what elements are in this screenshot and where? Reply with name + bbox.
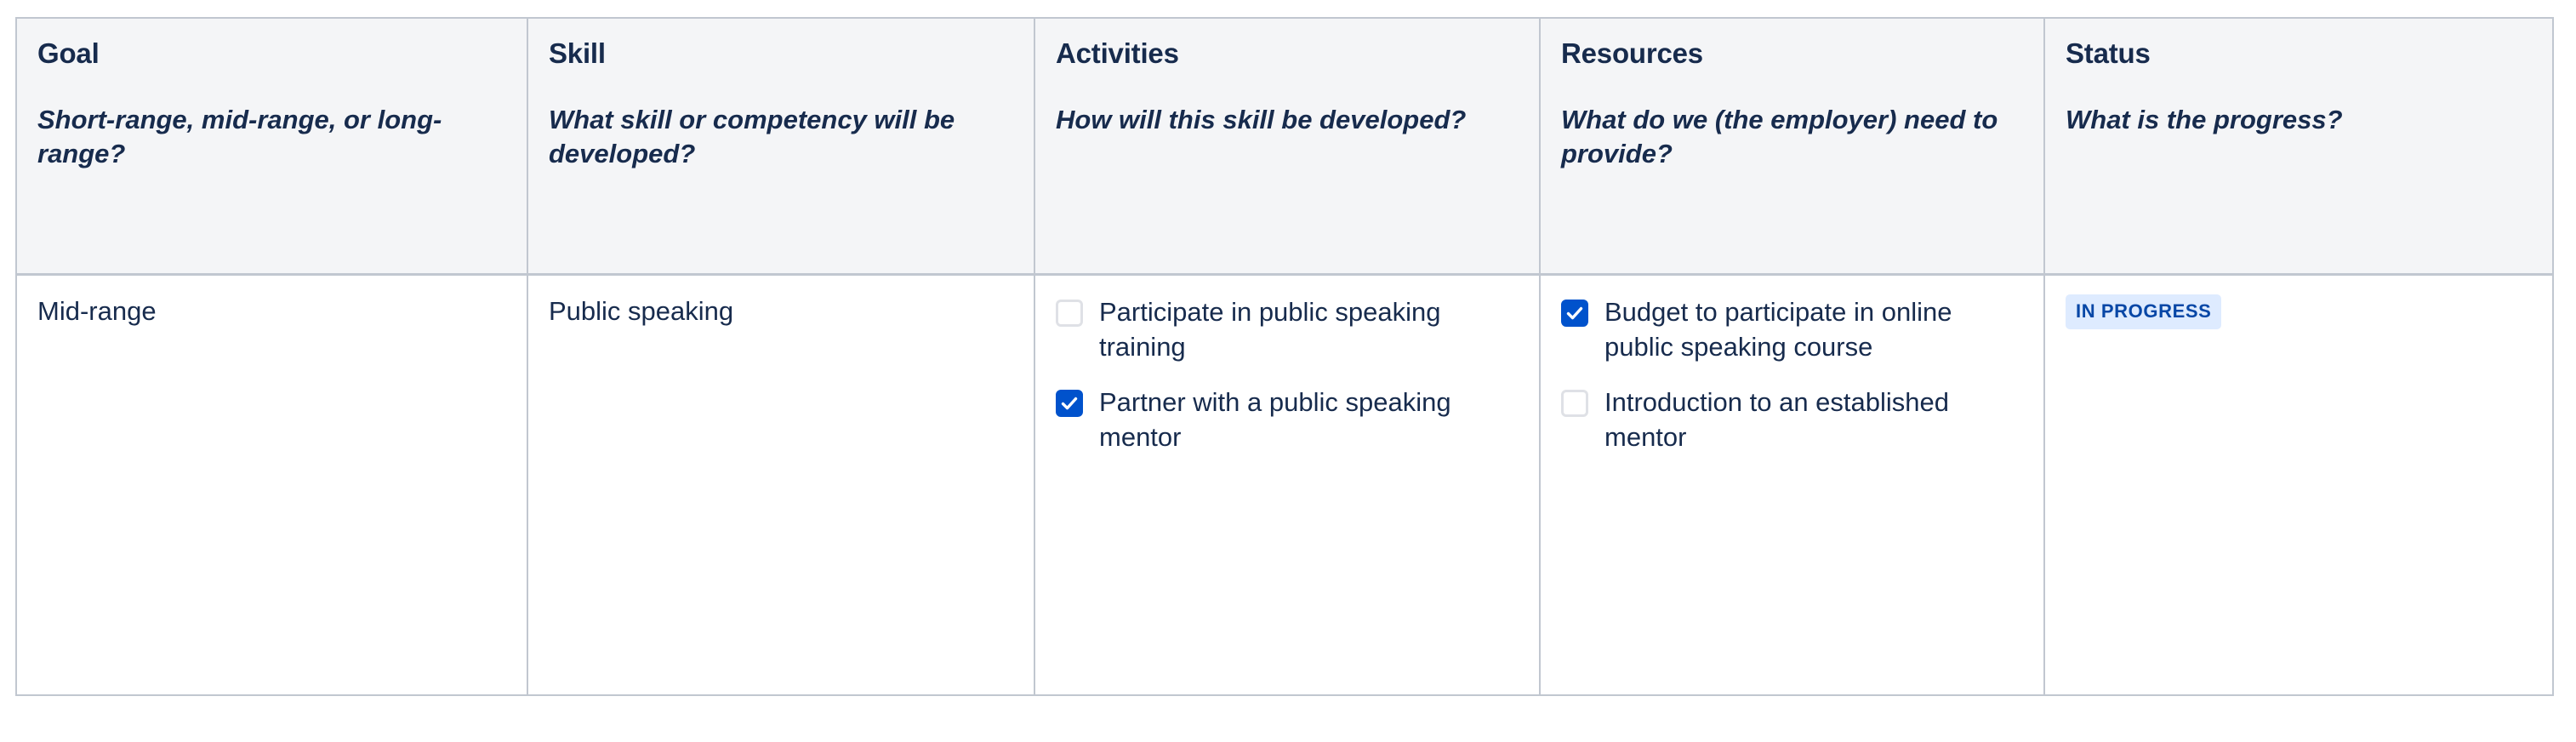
task-label: Participate in public speaking training xyxy=(1099,294,1519,364)
list-item[interactable]: Budget to participate in online public s… xyxy=(1561,294,2023,364)
column-title-goal: Goal xyxy=(37,37,506,70)
status-badge[interactable]: IN PROGRESS xyxy=(2066,294,2221,329)
column-description-activities: How will this skill be developed? xyxy=(1056,103,1519,137)
cell-activities: Participate in public speaking training … xyxy=(1034,274,1540,695)
skill-value: Public speaking xyxy=(549,294,1013,328)
development-plan-table: Goal Short-range, mid-range, or long-ran… xyxy=(15,17,2554,696)
task-label: Budget to participate in online public s… xyxy=(1604,294,2023,364)
column-header-skill: Skill What skill or competency will be d… xyxy=(527,18,1034,274)
column-title-activities: Activities xyxy=(1056,37,1519,70)
column-description-skill: What skill or competency will be develop… xyxy=(549,103,1013,170)
cell-goal: Mid-range xyxy=(16,274,527,695)
cell-skill: Public speaking xyxy=(527,274,1034,695)
table-header: Goal Short-range, mid-range, or long-ran… xyxy=(16,18,2553,274)
cell-status: IN PROGRESS xyxy=(2044,274,2553,695)
table-row: Mid-range Public speaking Participate in… xyxy=(16,274,2553,695)
list-item[interactable]: Introduction to an established mentor xyxy=(1561,385,2023,454)
task-label: Introduction to an established mentor xyxy=(1604,385,2023,454)
list-item[interactable]: Participate in public speaking training xyxy=(1056,294,1519,364)
column-title-status: Status xyxy=(2066,37,2532,70)
cell-resources: Budget to participate in online public s… xyxy=(1540,274,2044,695)
checkbox-checked-icon[interactable] xyxy=(1056,390,1083,417)
checkbox-unchecked-icon[interactable] xyxy=(1056,300,1083,327)
column-header-goal: Goal Short-range, mid-range, or long-ran… xyxy=(16,18,527,274)
goal-value: Mid-range xyxy=(37,294,506,328)
development-plan-page: Goal Short-range, mid-range, or long-ran… xyxy=(0,0,2576,742)
column-description-status: What is the progress? xyxy=(2066,103,2532,137)
column-description-resources: What do we (the employer) need to provid… xyxy=(1561,103,2023,170)
column-header-resources: Resources What do we (the employer) need… xyxy=(1540,18,2044,274)
list-item[interactable]: Partner with a public speaking mentor xyxy=(1056,385,1519,454)
column-header-status: Status What is the progress? xyxy=(2044,18,2553,274)
table-body: Mid-range Public speaking Participate in… xyxy=(16,274,2553,695)
column-header-activities: Activities How will this skill be develo… xyxy=(1034,18,1540,274)
checkbox-checked-icon[interactable] xyxy=(1561,300,1588,327)
column-title-resources: Resources xyxy=(1561,37,2023,70)
task-label: Partner with a public speaking mentor xyxy=(1099,385,1519,454)
header-row: Goal Short-range, mid-range, or long-ran… xyxy=(16,18,2553,274)
resources-task-list: Budget to participate in online public s… xyxy=(1561,294,2023,455)
checkbox-unchecked-icon[interactable] xyxy=(1561,390,1588,417)
column-title-skill: Skill xyxy=(549,37,1013,70)
column-description-goal: Short-range, mid-range, or long-range? xyxy=(37,103,506,170)
activities-task-list: Participate in public speaking training … xyxy=(1056,294,1519,455)
